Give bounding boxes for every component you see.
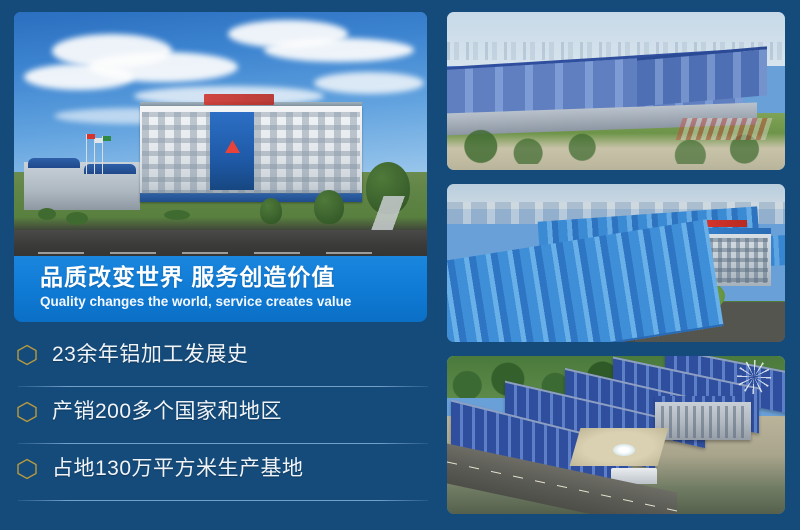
- gallery-photo-masterplan-rendering: [447, 356, 785, 514]
- blue-factory-roof: [637, 46, 767, 106]
- fountain: [613, 444, 635, 456]
- flagpole: [94, 138, 95, 174]
- caption-chinese: 品质改变世界 服务创造价值: [40, 263, 427, 291]
- flag: [95, 138, 103, 143]
- hero-photo-company-headquarters: [14, 12, 427, 270]
- blue-roof-segment: [84, 164, 136, 174]
- cloud-shape: [264, 38, 414, 62]
- main-office-rendering: [655, 396, 751, 440]
- cloud-shape: [314, 72, 424, 94]
- hexagon-bullet-icon: [16, 458, 38, 480]
- road-marking: [326, 252, 372, 254]
- cloud-shape: [24, 64, 134, 90]
- column-facade: [661, 406, 745, 438]
- list-item[interactable]: 23余年铝加工发展史: [0, 330, 440, 387]
- list-item-label: 23余年铝加工发展史: [52, 336, 248, 374]
- tree: [260, 198, 282, 224]
- list-item-label: 占地130万平方米生产基地: [52, 450, 304, 488]
- feature-list: 23余年铝加工发展史 产销200多个国家和地区 占地130万平方米生产基地: [0, 330, 440, 501]
- gallery-photo-aerial-plant-panorama: [447, 12, 785, 170]
- blue-roof-segment: [28, 158, 80, 168]
- gallery-photo-workshop-and-office-complex: [447, 184, 785, 342]
- road-marking: [38, 252, 84, 254]
- sunburst-icon: [737, 360, 771, 394]
- list-item[interactable]: 产销200多个国家和地区: [0, 387, 440, 444]
- road-marking: [182, 252, 228, 254]
- shrub: [164, 210, 190, 220]
- hero-caption-bar: 品质改变世界 服务创造价值 Quality changes the world,…: [14, 256, 427, 322]
- road-marking: [110, 252, 156, 254]
- hexagon-bullet-icon: [16, 401, 38, 423]
- blue-corrugated-roof: [447, 219, 724, 342]
- parking-lot: [675, 118, 772, 140]
- building-sign: [204, 94, 274, 105]
- flagpole: [86, 134, 87, 174]
- promo-page: 品质改变世界 服务创造价值 Quality changes the world,…: [0, 0, 800, 530]
- road-marking: [254, 252, 300, 254]
- caption-english: Quality changes the world, service creat…: [40, 293, 427, 311]
- flag: [103, 136, 111, 141]
- shrub: [38, 208, 56, 220]
- list-item[interactable]: 占地130万平方米生产基地: [0, 444, 440, 501]
- hexagon-bullet-icon: [16, 344, 38, 366]
- list-item-label: 产销200多个国家和地区: [52, 393, 282, 431]
- list-divider: [18, 500, 428, 501]
- flag: [87, 134, 95, 139]
- shrub: [66, 212, 88, 225]
- tree: [314, 190, 344, 224]
